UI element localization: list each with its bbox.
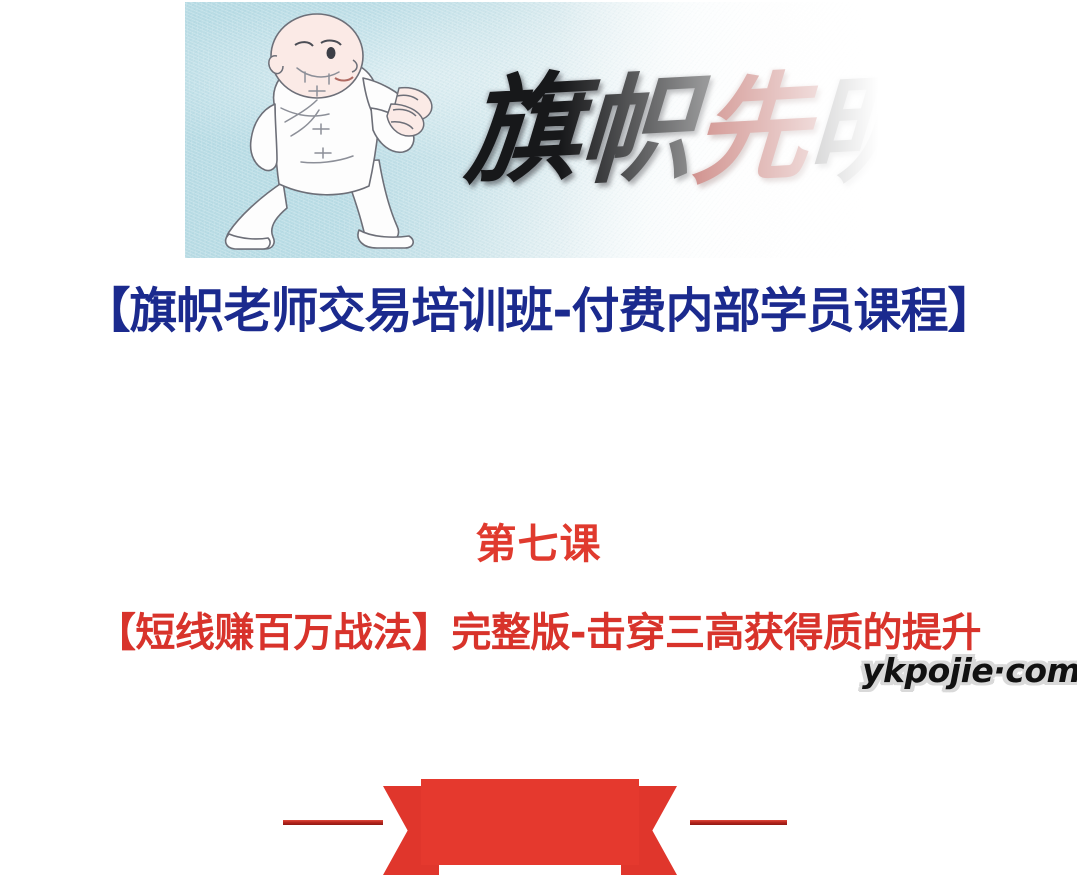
ribbon-rule-left xyxy=(283,820,383,825)
page-title: 【旗帜老师交易培训班-付费内部学员课程】 xyxy=(0,281,1077,341)
slide-root: 旗 帜 先 明 【旗帜老师交易培训班-付费内部学员课程】 旗帜先明 第七课 【短… xyxy=(0,0,1077,720)
calligraphy-char-1: 旗 xyxy=(462,69,587,191)
ribbon-rule-right xyxy=(690,820,787,825)
tai-chi-boy-illustration xyxy=(213,12,463,258)
ribbon-label: 旗帜先明 xyxy=(0,391,1077,473)
calligraphy-char-4: 明 xyxy=(804,69,879,191)
site-watermark: ykpojie·com xyxy=(862,650,1077,692)
calligraphy-char-2: 帜 xyxy=(576,69,701,191)
banner-image: 旗 帜 先 明 xyxy=(185,2,879,258)
lesson-number: 第七课 xyxy=(0,518,1077,570)
ribbon-shape xyxy=(383,779,677,875)
calligraphy-char-3: 先 xyxy=(690,69,815,191)
banner-calligraphy: 旗 帜 先 明 xyxy=(465,24,875,236)
ribbon-body xyxy=(421,779,639,865)
